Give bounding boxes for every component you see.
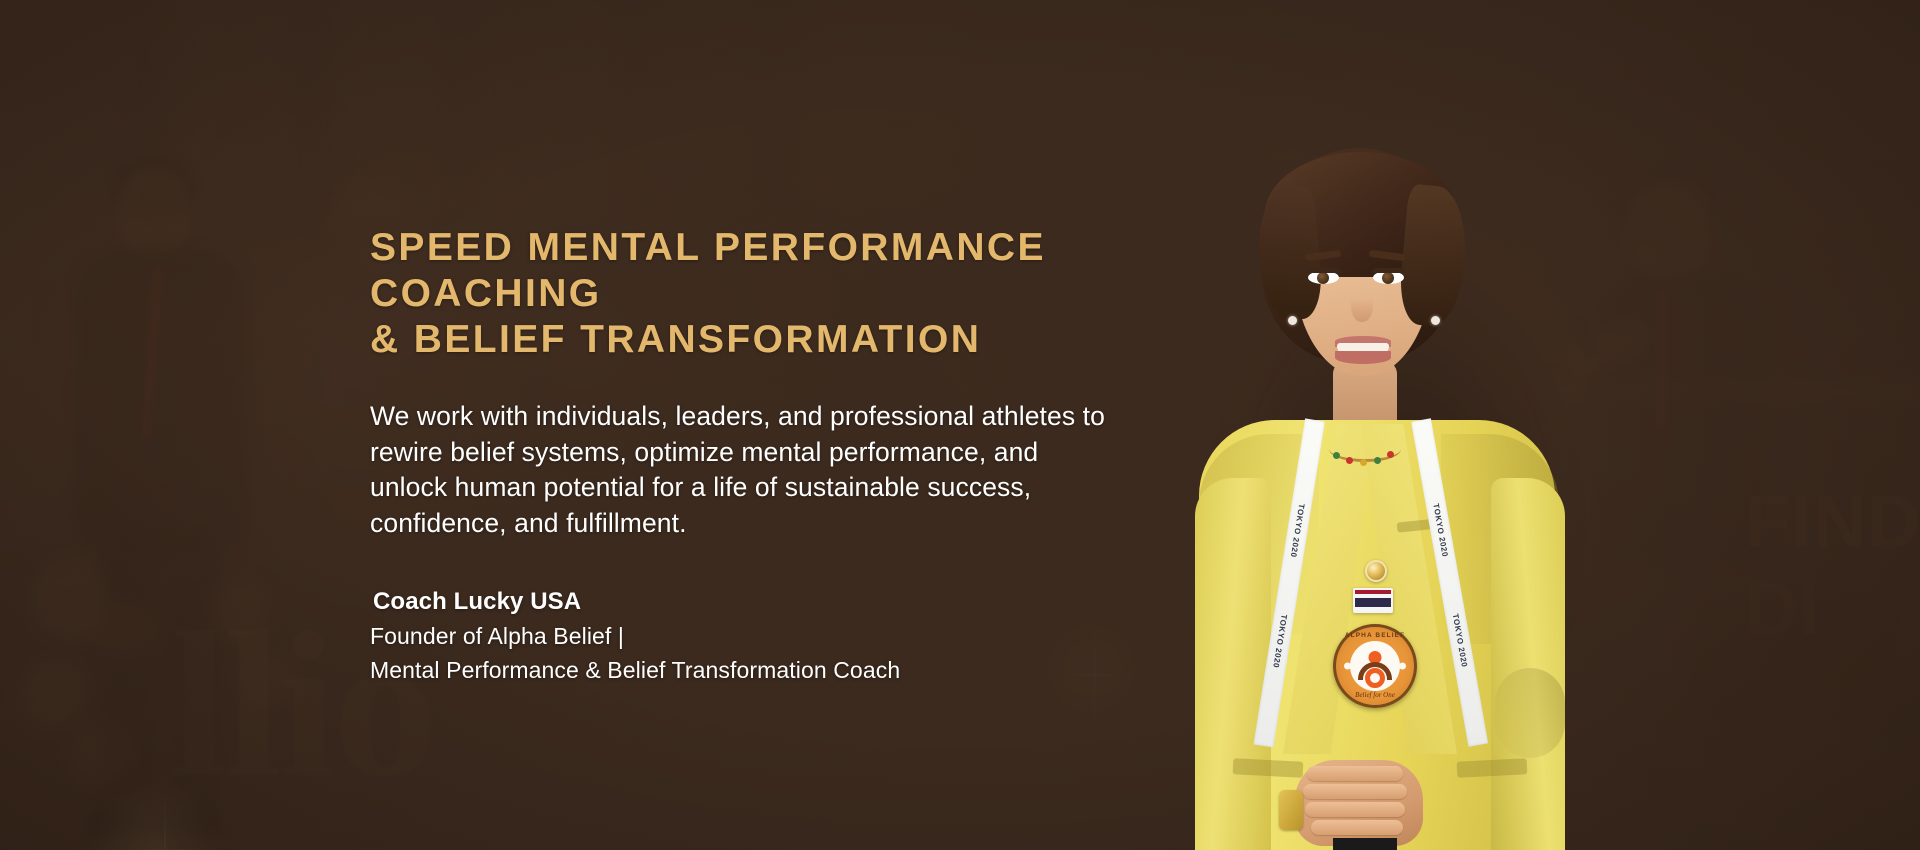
portrait-nose bbox=[1351, 288, 1373, 322]
portrait-eyelid bbox=[1372, 268, 1405, 273]
portrait-elbow-shading bbox=[1495, 668, 1565, 758]
badge-bottom-label: Belief for One bbox=[1336, 691, 1414, 699]
portrait-earring bbox=[1431, 316, 1440, 325]
badge-top-label: ALPHA BELIEF bbox=[1336, 632, 1414, 639]
portrait-necklace bbox=[1329, 436, 1401, 462]
finger bbox=[1305, 802, 1405, 817]
lanyard-label: TOKYO 2020 bbox=[1289, 503, 1306, 558]
portrait-lower-lip bbox=[1335, 351, 1391, 364]
necklace-bead bbox=[1387, 451, 1394, 458]
necklace-bead bbox=[1360, 459, 1367, 466]
lanyard-label: TOKYO 2020 bbox=[1431, 503, 1449, 558]
portrait-iris bbox=[1317, 272, 1329, 284]
finger bbox=[1307, 766, 1403, 781]
hero-banner: llio FINDI DI bbox=[0, 0, 1920, 850]
page-title: SPEED MENTAL PERFORMANCE COACHING & BELI… bbox=[370, 225, 1230, 363]
portrait-earring bbox=[1288, 316, 1297, 325]
necklace-bead bbox=[1333, 452, 1340, 459]
badge-pip bbox=[1399, 663, 1406, 670]
attribution-role-line-2: Mental Performance & Belief Transformati… bbox=[370, 653, 1230, 687]
wristwatch-icon bbox=[1279, 790, 1303, 830]
portrait-sleeve bbox=[1491, 478, 1565, 850]
portrait-iris bbox=[1382, 272, 1394, 284]
necklace-bead bbox=[1346, 457, 1353, 464]
lanyard-label: TOKYO 2020 bbox=[1271, 614, 1288, 669]
portrait-eyelid bbox=[1307, 268, 1340, 273]
necklace-bead bbox=[1374, 457, 1381, 464]
badge-ring bbox=[1365, 668, 1385, 688]
portrait-coach-lucky-usa: TOKYO 2020 TOKYO 2020 TOKYO 2020 TOKYO 2… bbox=[1165, 148, 1615, 850]
hero-content: SPEED MENTAL PERFORMANCE COACHING & BELI… bbox=[370, 225, 1230, 687]
flag-stripe bbox=[1355, 598, 1391, 606]
hero-description: We work with individuals, leaders, and p… bbox=[370, 399, 1230, 541]
badge-inner-disc bbox=[1350, 641, 1400, 691]
gold-lapel-pin-icon bbox=[1365, 560, 1387, 582]
finger bbox=[1311, 820, 1403, 835]
alpha-belief-badge-icon: ALPHA BELIEF Belief for One bbox=[1333, 624, 1417, 708]
attribution-role-line-1: Founder of Alpha Belief | bbox=[370, 619, 1230, 653]
attribution-block: Coach Lucky USA Founder of Alpha Belief … bbox=[370, 585, 1230, 687]
portrait-sleeve bbox=[1195, 478, 1271, 850]
lanyard-label: TOKYO 2020 bbox=[1451, 613, 1469, 668]
thailand-flag-pin-icon bbox=[1353, 588, 1393, 613]
portrait-inner-skirt bbox=[1333, 838, 1397, 850]
portrait-hair-sweep bbox=[1397, 184, 1471, 329]
finger bbox=[1303, 784, 1407, 799]
portrait-clasped-hands bbox=[1285, 756, 1435, 850]
attribution-name: Coach Lucky USA bbox=[373, 585, 1230, 619]
flag-stripe bbox=[1355, 611, 1391, 613]
